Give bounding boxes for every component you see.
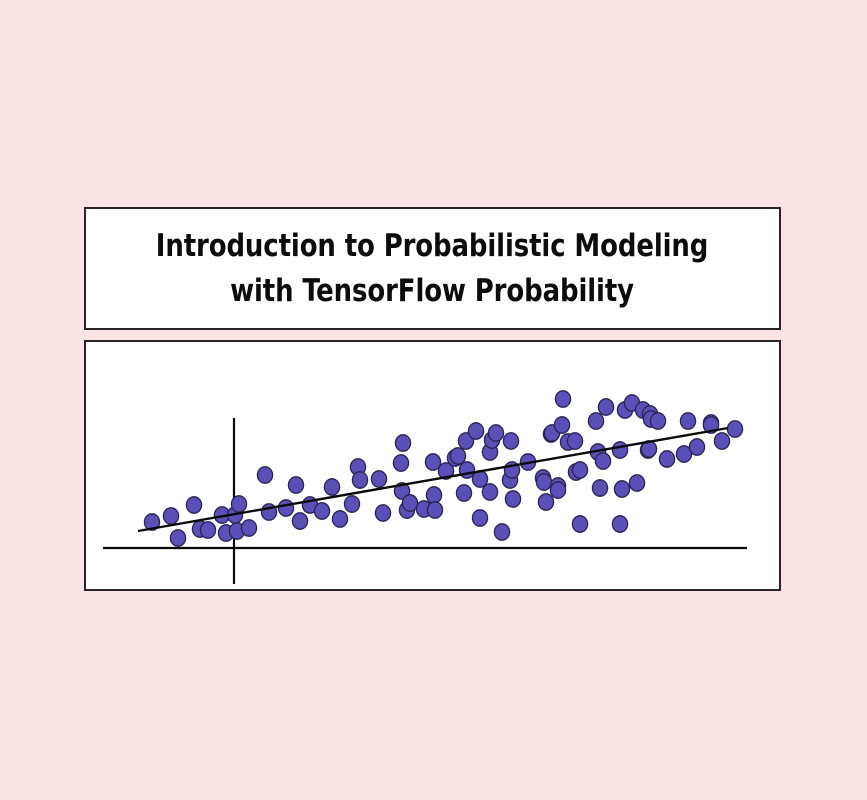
scatter-point	[555, 391, 570, 407]
scatter-point	[550, 482, 565, 498]
scatter-point	[598, 399, 613, 415]
chart-panel	[84, 340, 781, 591]
scatter-plot	[84, 340, 781, 591]
scatter-point	[592, 480, 607, 496]
scatter-point	[650, 413, 665, 429]
scatter-point	[612, 516, 627, 532]
scatter-point	[536, 474, 551, 490]
scatter-point	[714, 433, 729, 449]
scatter-point	[314, 503, 329, 519]
scatter-point	[241, 520, 256, 536]
scatter-point	[427, 502, 442, 518]
scatter-point	[494, 524, 509, 540]
scatter-point	[450, 448, 465, 464]
scatter-point	[689, 439, 704, 455]
scatter-point	[567, 433, 582, 449]
scatter-point	[186, 497, 201, 513]
scatter-point	[288, 477, 303, 493]
scatter-point	[456, 485, 471, 501]
scatter-point	[614, 481, 629, 497]
scatter-point	[503, 433, 518, 449]
scatter-point	[612, 442, 627, 458]
scatter-point	[200, 522, 215, 538]
scatter-point	[352, 472, 367, 488]
scatter-point	[163, 508, 178, 524]
slide-canvas: Introduction to Probabilistic Modeling w…	[0, 0, 867, 800]
scatter-point	[659, 451, 674, 467]
scatter-point	[727, 421, 742, 437]
scatter-point	[595, 453, 610, 469]
scatter-point	[257, 467, 272, 483]
scatter-point	[170, 530, 185, 546]
scatter-point	[554, 417, 569, 433]
scatter-point	[402, 495, 417, 511]
scatter-point	[375, 505, 390, 521]
scatter-point	[538, 494, 553, 510]
scatter-point	[324, 479, 339, 495]
scatter-point	[572, 462, 587, 478]
scatter-point	[344, 496, 359, 512]
scatter-point	[629, 475, 644, 491]
scatter-point	[488, 425, 503, 441]
scatter-point	[505, 491, 520, 507]
scatter-point	[482, 484, 497, 500]
scatter-point	[395, 435, 410, 451]
scatter-point	[278, 500, 293, 516]
scatter-point	[332, 511, 347, 527]
scatter-point	[468, 423, 483, 439]
scatter-point	[292, 513, 307, 529]
scatter-point	[572, 516, 587, 532]
scatter-point	[371, 471, 386, 487]
scatter-point	[426, 487, 441, 503]
scatter-point	[588, 413, 603, 429]
scatter-point	[472, 510, 487, 526]
page-title: Introduction to Probabilistic Modeling w…	[143, 224, 722, 313]
title-panel: Introduction to Probabilistic Modeling w…	[84, 207, 781, 330]
scatter-point	[393, 455, 408, 471]
scatter-point	[680, 413, 695, 429]
scatter-point	[231, 496, 246, 512]
